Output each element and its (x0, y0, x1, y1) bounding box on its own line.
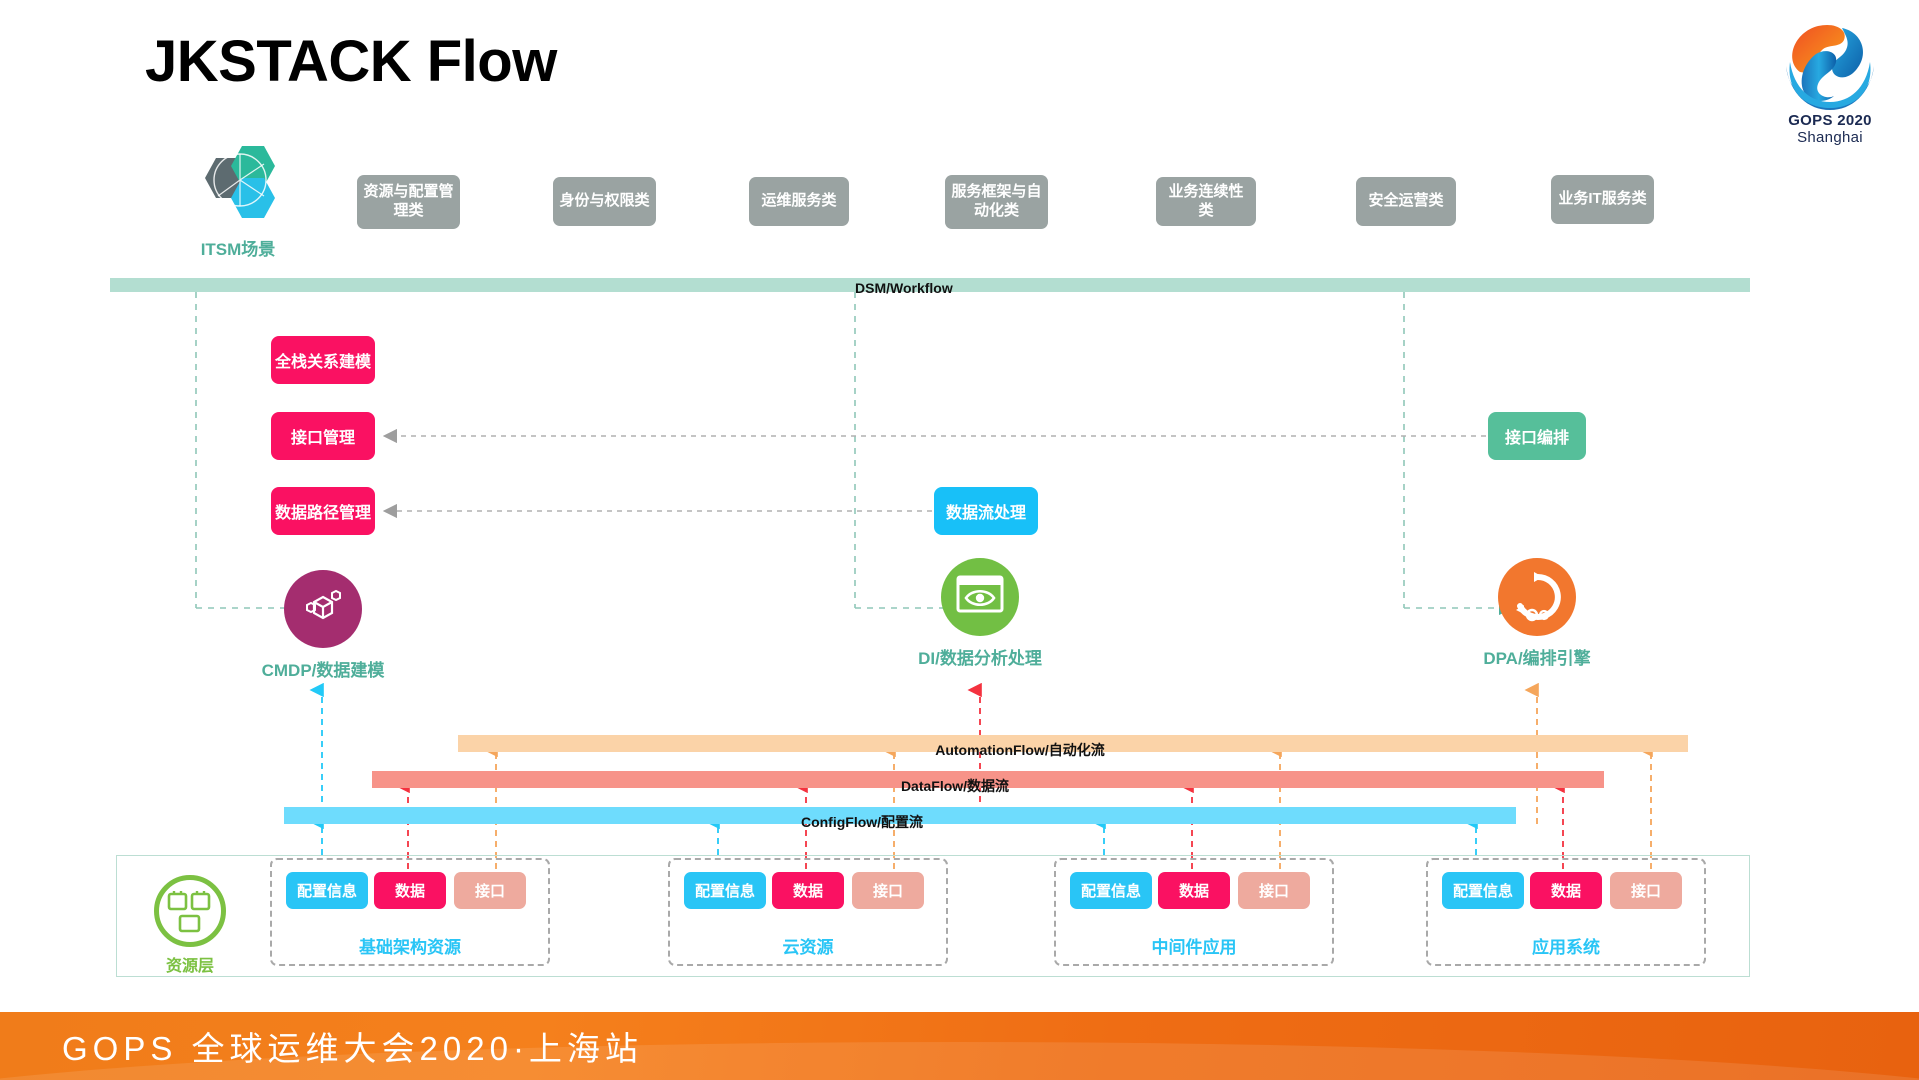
resource-group-2-config-chip[interactable]: 配置信息 (1070, 872, 1152, 909)
engine-node-1[interactable]: DI/数据分析处理 (900, 558, 1060, 669)
flow-bar-label-1: DataFlow/数据流 (901, 776, 1009, 796)
resource-group-1-data-chip[interactable]: 数据 (772, 872, 844, 909)
scenario-chip-4[interactable]: 业务连续性类 (1156, 177, 1256, 226)
gops-logo-icon (1778, 14, 1882, 110)
dsm-workflow-label: DSM/Workflow (855, 280, 953, 296)
cube-network-icon (284, 570, 362, 648)
resource-group-1-config-chip[interactable]: 配置信息 (684, 872, 766, 909)
resource-group-3-config-chip[interactable]: 配置信息 (1442, 872, 1524, 909)
scenario-chip-1[interactable]: 身份与权限类 (553, 177, 656, 226)
gops-logo-line1: GOPS 2020 (1767, 112, 1893, 129)
flow-bar-label-2: ConfigFlow/配置流 (801, 812, 923, 832)
itsm-label: ITSM场景 (163, 235, 313, 260)
capability-box-2[interactable]: 数据路径管理 (271, 487, 375, 535)
footer-banner-text: GOPS 全球运维大会2020·上海站 (62, 1022, 643, 1070)
resource-group-1[interactable]: 配置信息数据接口云资源 (668, 858, 948, 966)
engine-label-2: DPA/编排引擎 (1457, 644, 1617, 669)
capability-box-3[interactable]: 数据流处理 (934, 487, 1038, 535)
engine-label-1: DI/数据分析处理 (900, 644, 1060, 669)
engine-node-0[interactable]: CMDP/数据建模 (243, 570, 403, 681)
resource-group-0-data-chip[interactable]: 数据 (374, 872, 446, 909)
scenario-chip-0[interactable]: 资源与配置管理类 (357, 175, 460, 229)
resource-layer-label: 资源层 (148, 952, 232, 976)
gops-logo: GOPS 2020 Shanghai (1767, 14, 1893, 146)
resource-group-3[interactable]: 配置信息数据接口应用系统 (1426, 858, 1706, 966)
scenario-chip-5[interactable]: 安全运营类 (1356, 177, 1456, 226)
capability-box-1[interactable]: 接口管理 (271, 412, 375, 460)
footer-banner: GOPS 全球运维大会2020·上海站 (0, 1012, 1919, 1080)
capability-box-0[interactable]: 全栈关系建模 (271, 336, 375, 384)
flow-bar-label-0: AutomationFlow/自动化流 (935, 740, 1105, 760)
scenario-chip-3[interactable]: 服务框架与自动化类 (945, 175, 1048, 229)
gops-logo-mark (1778, 14, 1882, 110)
resource-group-3-data-chip[interactable]: 数据 (1530, 872, 1602, 909)
capability-box-4[interactable]: 接口编排 (1488, 412, 1586, 460)
resource-group-2-api-chip[interactable]: 接口 (1238, 872, 1310, 909)
engine-node-2[interactable]: DPA/编排引擎 (1457, 558, 1617, 669)
slide-canvas: JKSTACK Flow (0, 0, 1919, 1080)
resource-group-2[interactable]: 配置信息数据接口中间件应用 (1054, 858, 1334, 966)
itsm-scenario: ITSM场景 (163, 140, 313, 260)
engine-label-0: CMDP/数据建模 (243, 656, 403, 681)
resource-group-0-api-chip[interactable]: 接口 (454, 872, 526, 909)
page-title: JKSTACK Flow (145, 28, 557, 95)
resource-group-1-api-chip[interactable]: 接口 (852, 872, 924, 909)
resource-group-0[interactable]: 配置信息数据接口基础架构资源 (270, 858, 550, 966)
resource-group-title-2: 中间件应用 (1056, 933, 1332, 958)
resource-group-0-config-chip[interactable]: 配置信息 (286, 872, 368, 909)
eye-monitor-icon (941, 558, 1019, 636)
gops-logo-line2: Shanghai (1767, 129, 1893, 146)
scenario-chip-2[interactable]: 运维服务类 (749, 177, 849, 226)
hexagon-cluster-icon (186, 140, 290, 224)
resource-group-title-3: 应用系统 (1428, 933, 1704, 958)
scenario-chip-6[interactable]: 业务IT服务类 (1551, 175, 1654, 224)
gear-refresh-icon (1498, 558, 1576, 636)
resource-group-2-data-chip[interactable]: 数据 (1158, 872, 1230, 909)
resource-group-title-1: 云资源 (670, 933, 946, 958)
resource-group-title-0: 基础架构资源 (272, 933, 548, 958)
server-group-icon (154, 875, 226, 947)
resource-group-3-api-chip[interactable]: 接口 (1610, 872, 1682, 909)
resource-layer-icon-wrap: 资源层 (148, 875, 232, 976)
